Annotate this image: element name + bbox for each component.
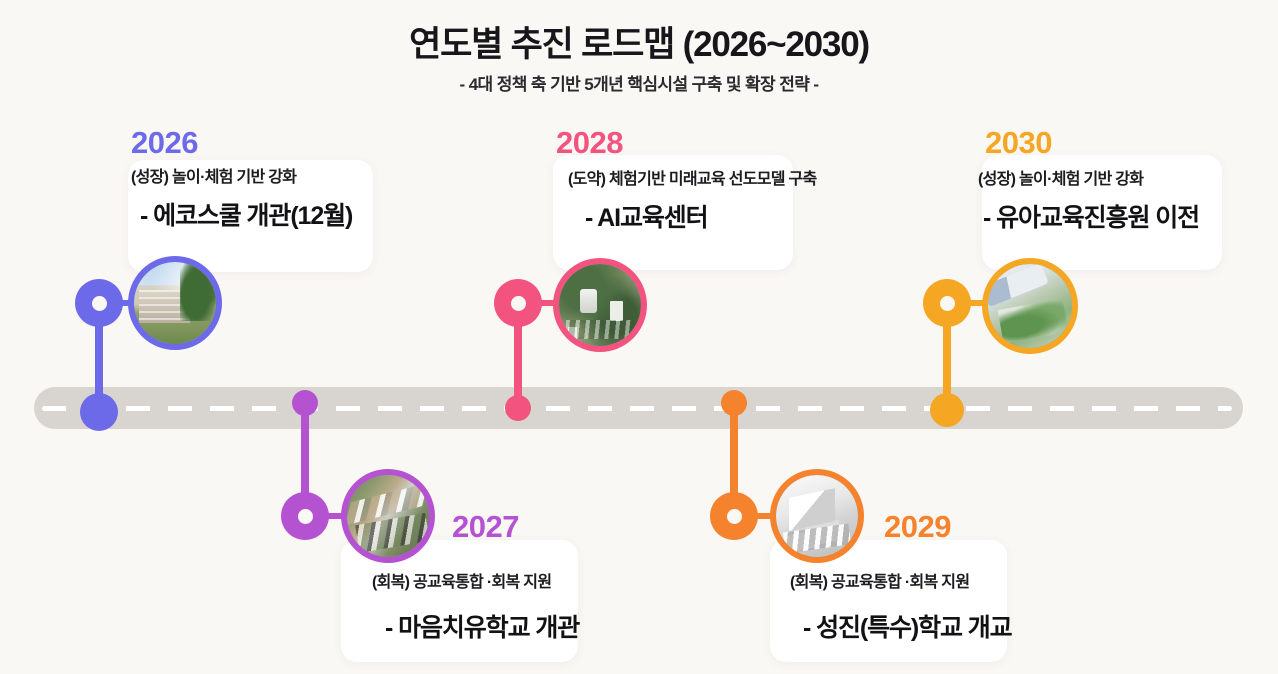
milestone-node-2029[interactable] — [710, 492, 758, 540]
milestone-node-2027[interactable] — [281, 492, 329, 540]
page-subtitle: - 4대 정책 축 기반 5개년 핵심시설 구축 및 확장 전략 - — [0, 70, 1278, 95]
mind-healing-school-photo-image — [347, 475, 429, 557]
mind-healing-school-photo[interactable] — [341, 469, 435, 563]
eco-school-photo-image — [134, 262, 216, 344]
milestone-policy-2028: (도약) 체험기반 미래교육 선도모델 구축 — [568, 165, 817, 189]
milestone-node-2030[interactable] — [923, 279, 971, 327]
milestone-policy-2027: (회복) 공교육통합 ·회복 지원 — [372, 568, 551, 592]
milestone-policy-2026: (성장) 놀이·체험 기반 강화 — [131, 163, 296, 187]
seongjin-special-school-photo[interactable] — [770, 469, 864, 563]
milestone-node-2028[interactable] — [494, 279, 542, 327]
milestone-project-2028: - AI교육센터 — [585, 198, 708, 234]
early-childhood-institute-photo-image — [988, 264, 1072, 348]
milestone-project-2030: - 유아교육진흥원 이전 — [983, 198, 1199, 234]
page-title: 연도별 추진 로드맵 (2026~2030) — [0, 16, 1278, 67]
milestone-road-dot-2026 — [80, 393, 118, 431]
milestone-policy-2030: (성장) 놀이·체험 기반 강화 — [978, 165, 1143, 189]
seongjin-special-school-photo-image — [776, 475, 858, 557]
roadmap-infographic: 연도별 추진 로드맵 (2026~2030) - 4대 정책 축 기반 5개년 … — [0, 0, 1278, 674]
milestone-policy-2029: (회복) 공교육통합 ·회복 지원 — [790, 568, 969, 592]
milestone-road-dot-2029 — [721, 390, 747, 416]
ai-education-center-photo-image — [559, 264, 641, 346]
milestone-road-dot-2028 — [505, 395, 531, 421]
milestone-node-2026[interactable] — [75, 279, 123, 327]
milestone-year-2030: 2030 — [985, 125, 1052, 161]
milestone-year-2028: 2028 — [556, 125, 623, 161]
milestone-project-2026: - 에코스쿨 개관(12월) — [140, 196, 352, 232]
milestone-road-dot-2027 — [292, 390, 318, 416]
milestone-project-2029: - 성진(특수)학교 개교 — [803, 608, 1012, 644]
milestone-project-2027: - 마음치유학교 개관 — [385, 608, 579, 644]
milestone-year-2027: 2027 — [452, 509, 519, 545]
milestone-year-2029: 2029 — [884, 509, 951, 545]
milestone-year-2026: 2026 — [131, 125, 198, 161]
early-childhood-institute-photo[interactable] — [982, 258, 1078, 354]
ai-education-center-photo[interactable] — [553, 258, 647, 352]
milestone-road-dot-2030 — [930, 393, 964, 427]
timeline-road-dashes — [42, 406, 1232, 411]
eco-school-photo[interactable] — [128, 256, 222, 350]
